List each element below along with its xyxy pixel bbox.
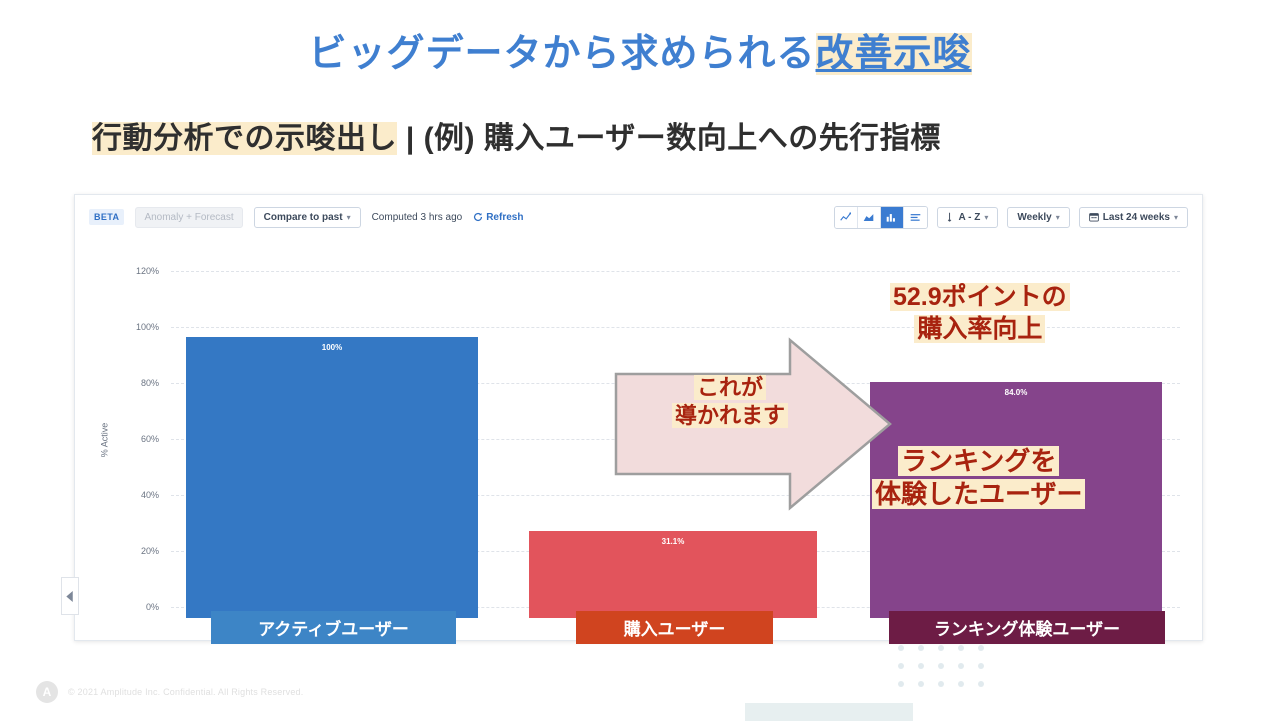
gain-annotation-line1: 52.9ポイントの — [890, 283, 1070, 311]
compare-to-past-dropdown[interactable]: Compare to past ▾ — [254, 207, 361, 228]
list-view-icon[interactable] — [904, 207, 927, 228]
chevron-down-icon: ▾ — [347, 213, 351, 222]
dot — [978, 645, 984, 651]
chart-type-group — [834, 206, 928, 229]
x-label-ranking-users: ランキング体験ユーザー — [889, 611, 1165, 644]
dot — [918, 663, 924, 669]
dot — [958, 681, 964, 687]
dot — [898, 681, 904, 687]
page-subtitle: 行動分析での示唆出し | (例) 購入ユーザー数向上への先行指標 — [92, 113, 1232, 157]
anomaly-forecast-button[interactable]: Anomaly + Forecast — [135, 207, 242, 228]
dot — [958, 645, 964, 651]
dot — [898, 645, 904, 651]
chevron-left-icon — [66, 591, 74, 602]
chevron-down-icon: ▾ — [984, 213, 988, 222]
toolbar-left-group: BETA Anomaly + Forecast Compare to past … — [89, 207, 523, 228]
arrow-annotation-line1: これが — [694, 375, 766, 400]
page-subtitle-highlight: 行動分析での示唆出し — [92, 122, 397, 155]
date-range-label: Last 24 weeks — [1103, 212, 1170, 223]
page-title-highlight: 改善示唆 — [816, 33, 972, 75]
dot — [898, 663, 904, 669]
dot — [918, 681, 924, 687]
bar-purchasing-users[interactable]: 31.1% — [529, 531, 817, 618]
y-tick-60: 60% — [101, 434, 159, 444]
arrow-annotation-text: これが 導かれます — [672, 374, 788, 430]
gain-annotation-line2: 購入率向上 — [914, 315, 1045, 343]
page-subtitle-rest: | (例) 購入ユーザー数向上への先行指標 — [397, 122, 941, 155]
dot — [978, 663, 984, 669]
dot — [958, 663, 964, 669]
decorative-rectangle — [745, 703, 913, 721]
bar-annotation-text: ランキングを 体験したユーザー — [872, 445, 1085, 512]
sort-label: A - Z — [959, 212, 981, 223]
decorative-dot-grid — [898, 645, 998, 687]
y-tick-120: 120% — [101, 266, 159, 276]
frequency-label: Weekly — [1017, 212, 1051, 223]
x-axis-legend: アクティブユーザー 購入ユーザー ランキング体験ユーザー — [171, 614, 1180, 644]
chevron-down-icon: ▾ — [1174, 213, 1178, 222]
refresh-button[interactable]: Refresh — [473, 212, 523, 223]
compare-to-past-label: Compare to past — [264, 212, 343, 223]
frequency-dropdown[interactable]: Weekly ▾ — [1007, 207, 1069, 228]
gain-annotation-text: 52.9ポイントの 購入率向上 — [890, 281, 1070, 345]
y-tick-0: 0% — [101, 602, 159, 612]
bar-active-users[interactable]: 100% — [186, 337, 478, 618]
footer: A © 2021 Amplitude Inc. Confidential. Al… — [36, 681, 303, 703]
date-range-dropdown[interactable]: Last 24 weeks ▾ — [1079, 207, 1188, 228]
dot — [938, 681, 944, 687]
toolbar-right-group: A - Z ▾ Weekly ▾ Last 24 weeks ▾ — [834, 206, 1188, 229]
calendar-icon — [1089, 212, 1099, 222]
y-tick-80: 80% — [101, 378, 159, 388]
chart-toolbar: BETA Anomaly + Forecast Compare to past … — [75, 195, 1202, 239]
bar-annotation-line2: 体験したユーザー — [872, 479, 1085, 509]
refresh-label: Refresh — [486, 212, 523, 223]
panel-collapse-button[interactable] — [61, 577, 79, 615]
amplitude-logo-icon: A — [36, 681, 58, 703]
bar-chart-icon[interactable] — [881, 207, 904, 228]
y-tick-40: 40% — [101, 490, 159, 500]
bar-annotation-line1: ランキングを — [898, 446, 1059, 476]
sort-az-icon — [947, 212, 955, 222]
arrow-annotation-line2: 導かれます — [672, 403, 788, 428]
x-label-purchasing-users: 購入ユーザー — [576, 611, 773, 644]
copyright-text: © 2021 Amplitude Inc. Confidential. All … — [68, 687, 303, 697]
dot — [938, 663, 944, 669]
refresh-icon — [473, 212, 483, 222]
sort-dropdown[interactable]: A - Z ▾ — [937, 207, 999, 228]
line-chart-icon[interactable] — [835, 207, 858, 228]
page-title: ビッグデータから求められる改善示唆 — [0, 22, 1280, 77]
y-tick-20: 20% — [101, 546, 159, 556]
y-tick-100: 100% — [101, 322, 159, 332]
beta-badge: BETA — [89, 209, 124, 225]
x-label-active-users: アクティブユーザー — [211, 611, 456, 644]
bar-value-label: 31.1% — [529, 537, 817, 546]
bar-value-label: 100% — [186, 343, 478, 352]
page-title-plain: ビッグデータから求められる — [308, 33, 815, 75]
dot — [978, 681, 984, 687]
chevron-down-icon: ▾ — [1056, 213, 1060, 222]
computed-timestamp: Computed 3 hrs ago — [372, 212, 463, 223]
dot — [918, 645, 924, 651]
bar-value-label: 84.0% — [870, 388, 1162, 397]
area-chart-icon[interactable] — [858, 207, 881, 228]
dot — [938, 645, 944, 651]
